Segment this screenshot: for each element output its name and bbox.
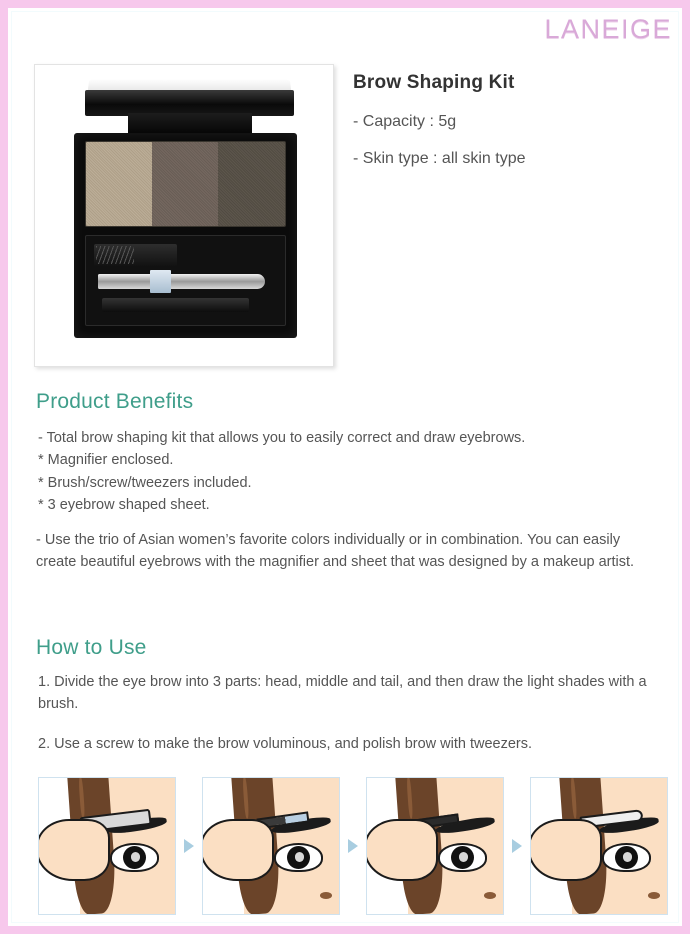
hand-shape (366, 819, 438, 882)
compact-lid (85, 90, 294, 116)
benefit-line: - Total brow shaping kit that allows you… (38, 427, 668, 449)
hair-highlight (570, 777, 577, 819)
benefit-line: * Brush/screw/tweezers included. (38, 472, 668, 494)
how-to-step-illustrations (38, 776, 668, 916)
section-heading-benefits: Product Benefits (36, 390, 193, 414)
step-arrow-icon (184, 839, 194, 853)
benefits-list: - Total brow shaping kit that allows you… (38, 427, 668, 517)
step-illustration-1 (38, 777, 176, 915)
brand-logo: LANEIGE (544, 14, 672, 45)
product-detail-page: LANEIGE Brow Shaping (0, 0, 690, 934)
powder-pans (85, 141, 285, 227)
step-illustration-4 (530, 777, 668, 915)
hair-highlight (78, 777, 85, 819)
compact-base (74, 133, 297, 338)
spoolie-brush-icon (94, 244, 177, 267)
how-to-step-1-text: 1. Divide the eye brow into 3 parts: hea… (38, 671, 663, 716)
how-to-step-2-text: 2. Use a screw to make the brow volumino… (38, 733, 678, 755)
step-arrow-icon (348, 839, 358, 853)
product-info: Brow Shaping Kit - Capacity : 5g - Skin … (353, 72, 673, 168)
benefit-line: * Magnifier enclosed. (38, 449, 668, 471)
powder-pan-dark (218, 142, 284, 226)
product-image-frame (34, 64, 334, 367)
section-heading-how-to-use: How to Use (36, 636, 147, 660)
tool-compartment (85, 235, 285, 325)
brow-pencil-icon (102, 298, 249, 312)
benefit-line: * 3 eyebrow shaped sheet. (38, 494, 668, 516)
benefits-paragraph: - Use the trio of Asian women’s favorite… (36, 529, 656, 574)
step-arrow-icon (512, 839, 522, 853)
hair-highlight (406, 777, 413, 819)
hand-shape (38, 819, 110, 882)
page-title: Brow Shaping Kit (353, 72, 673, 94)
powder-pan-light (86, 142, 152, 226)
hair-highlight (242, 777, 249, 819)
product-capacity: - Capacity : 5g (353, 113, 673, 131)
powder-pan-medium (152, 142, 218, 226)
step-illustration-2 (202, 777, 340, 915)
step-illustration-3 (366, 777, 504, 915)
product-skin-type: - Skin type : all skin type (353, 150, 673, 168)
hand-shape (530, 819, 602, 882)
product-image (43, 73, 325, 358)
tweezers-band (150, 270, 172, 293)
tweezers-icon (98, 274, 265, 289)
hand-shape (202, 819, 274, 882)
